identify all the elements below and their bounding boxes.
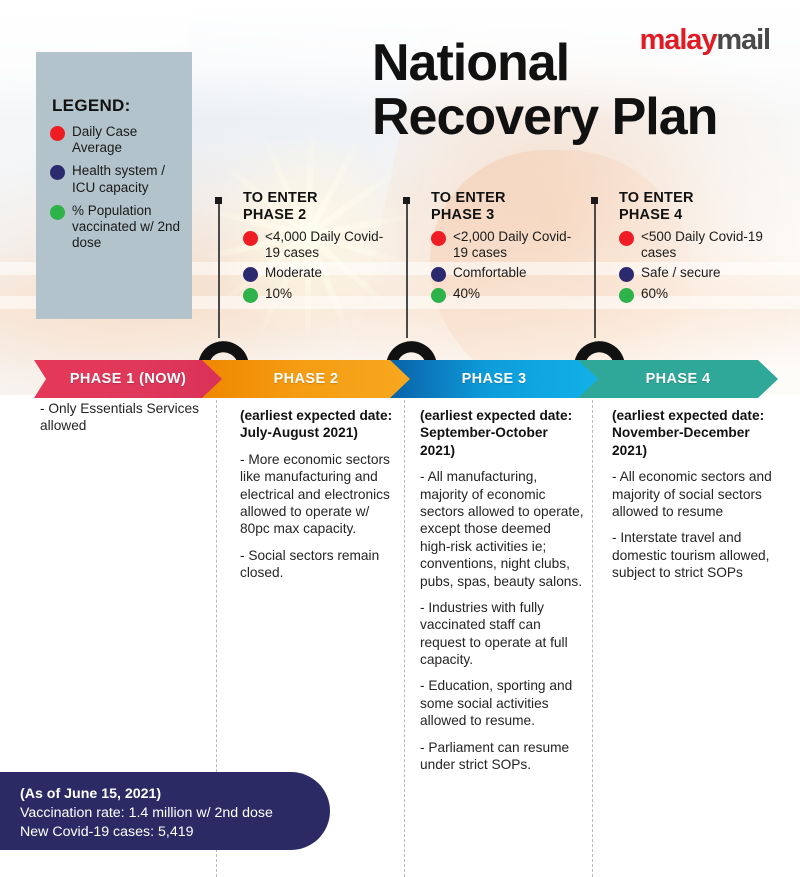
criterion-text: 10% (265, 286, 292, 302)
phase-column-2: (earliest expected date: July-August 202… (240, 407, 398, 591)
callout-heading: TO ENTER PHASE 3 (431, 190, 581, 223)
connector-stem-phase3 (406, 204, 408, 338)
phase-label-2: PHASE 2 (274, 371, 339, 387)
legend-item-label: Daily Case Average (72, 124, 182, 156)
red-dot-icon (619, 231, 634, 246)
column-paragraph: - Interstate travel and domestic tourism… (612, 529, 777, 581)
criterion-text: <2,000 Daily Covid-19 cases (453, 229, 581, 261)
red-dot-icon (50, 126, 65, 141)
phase-chevron-4[interactable]: PHASE 4 (578, 360, 778, 398)
green-dot-icon (431, 288, 446, 303)
criterion-text: 60% (641, 286, 668, 302)
callout-criteria-list: <2,000 Daily Covid-19 cases Comfortable … (431, 229, 581, 303)
red-dot-icon (431, 231, 446, 246)
legend-list: Daily Case Average Health system / ICU c… (50, 124, 182, 258)
navy-dot-icon (619, 267, 634, 282)
green-dot-icon (50, 205, 65, 220)
navy-dot-icon (431, 267, 446, 282)
navy-dot-icon (50, 165, 65, 180)
footer-vaccination-rate: Vaccination rate: 1.4 million w/ 2nd dos… (20, 804, 312, 823)
callout-criterion: 60% (619, 286, 769, 303)
phase-label-1: PHASE 1 (NOW) (70, 371, 186, 387)
criterion-text: Moderate (265, 265, 322, 281)
navy-dot-icon (243, 267, 258, 282)
page-title-line1: National (372, 36, 772, 90)
column-paragraph: - Industries with fully vaccinated staff… (420, 599, 585, 669)
column-divider-2 (404, 400, 405, 877)
column-paragraph: - Parliament can resume under strict SOP… (420, 739, 585, 774)
callout-criterion: <500 Daily Covid-19 cases (619, 229, 769, 261)
phase-banner: PHASE 4 PHASE 3 PHASE 2 PHASE 1 (NOW) (0, 360, 800, 398)
footer-new-cases: New Covid-19 cases: 5,419 (20, 823, 312, 842)
legend-item: % Population vaccinated w/ 2nd dose (50, 203, 182, 252)
column-divider-3 (592, 400, 593, 877)
callout-criterion: Safe / secure (619, 265, 769, 282)
green-dot-icon (619, 288, 634, 303)
criterion-text: 40% (453, 286, 480, 302)
connector-stem-phase2 (218, 204, 220, 338)
phase-label-4: PHASE 4 (646, 371, 711, 387)
connector-marker-phase3 (403, 197, 410, 204)
column-paragraph: - Education, sporting and some social ac… (420, 677, 585, 729)
callout-phase4: TO ENTER PHASE 4 <500 Daily Covid-19 cas… (619, 190, 769, 307)
legend-item-label: % Population vaccinated w/ 2nd dose (72, 203, 182, 252)
legend-title: LEGEND: (52, 96, 131, 116)
column-date: (earliest expected date: September-Octob… (420, 407, 585, 459)
legend-item: Health system / ICU capacity (50, 163, 182, 195)
infographic-root: malaymail National Recovery Plan LEGEND:… (0, 0, 800, 877)
callout-criterion: 40% (431, 286, 581, 303)
page-title: National Recovery Plan (372, 36, 772, 144)
phase-column-4: (earliest expected date: November-Decemb… (612, 407, 777, 591)
callout-criterion: <2,000 Daily Covid-19 cases (431, 229, 581, 261)
green-dot-icon (243, 288, 258, 303)
connector-marker-phase2 (215, 197, 222, 204)
connector-stem-phase4 (594, 204, 596, 338)
callout-criterion: Comfortable (431, 265, 581, 282)
criterion-text: Safe / secure (641, 265, 721, 281)
callout-heading: TO ENTER PHASE 4 (619, 190, 769, 223)
phase-column-1: - Only Essentials Services allowed (40, 400, 205, 444)
phase-label-3: PHASE 3 (462, 371, 527, 387)
callout-heading: TO ENTER PHASE 2 (243, 190, 393, 223)
connector-marker-phase4 (591, 197, 598, 204)
callout-criteria-list: <4,000 Daily Covid-19 cases Moderate 10% (243, 229, 393, 303)
callout-criteria-list: <500 Daily Covid-19 cases Safe / secure … (619, 229, 769, 303)
criterion-text: Comfortable (453, 265, 527, 281)
criterion-text: <4,000 Daily Covid-19 cases (265, 229, 393, 261)
column-date: (earliest expected date: July-August 202… (240, 407, 398, 442)
phase-chevron-2[interactable]: PHASE 2 (202, 360, 410, 398)
phase-chevron-3[interactable]: PHASE 3 (390, 360, 598, 398)
status-footer: (As of June 15, 2021) Vaccination rate: … (0, 772, 330, 850)
callout-phase3: TO ENTER PHASE 3 <2,000 Daily Covid-19 c… (431, 190, 581, 307)
red-dot-icon (243, 231, 258, 246)
footer-asof-date: (As of June 15, 2021) (20, 785, 312, 804)
legend-item-label: Health system / ICU capacity (72, 163, 182, 195)
column-paragraph: - All economic sectors and majority of s… (612, 468, 777, 520)
phase-chevron-1[interactable]: PHASE 1 (NOW) (34, 360, 222, 398)
column-paragraph: - More economic sectors like manufacturi… (240, 451, 398, 538)
phase-column-3: (earliest expected date: September-Octob… (420, 407, 585, 782)
callout-criterion: Moderate (243, 265, 393, 282)
column-date: (earliest expected date: November-Decemb… (612, 407, 777, 459)
criterion-text: <500 Daily Covid-19 cases (641, 229, 769, 261)
legend-item: Daily Case Average (50, 124, 182, 156)
column-paragraph: - All manufacturing, majority of economi… (420, 468, 585, 590)
callout-criterion: <4,000 Daily Covid-19 cases (243, 229, 393, 261)
callout-criterion: 10% (243, 286, 393, 303)
column-paragraph: - Social sectors remain closed. (240, 547, 398, 582)
column-paragraph: - Only Essentials Services allowed (40, 400, 205, 435)
page-title-line2: Recovery Plan (372, 90, 772, 144)
callout-phase2: TO ENTER PHASE 2 <4,000 Daily Covid-19 c… (243, 190, 393, 307)
